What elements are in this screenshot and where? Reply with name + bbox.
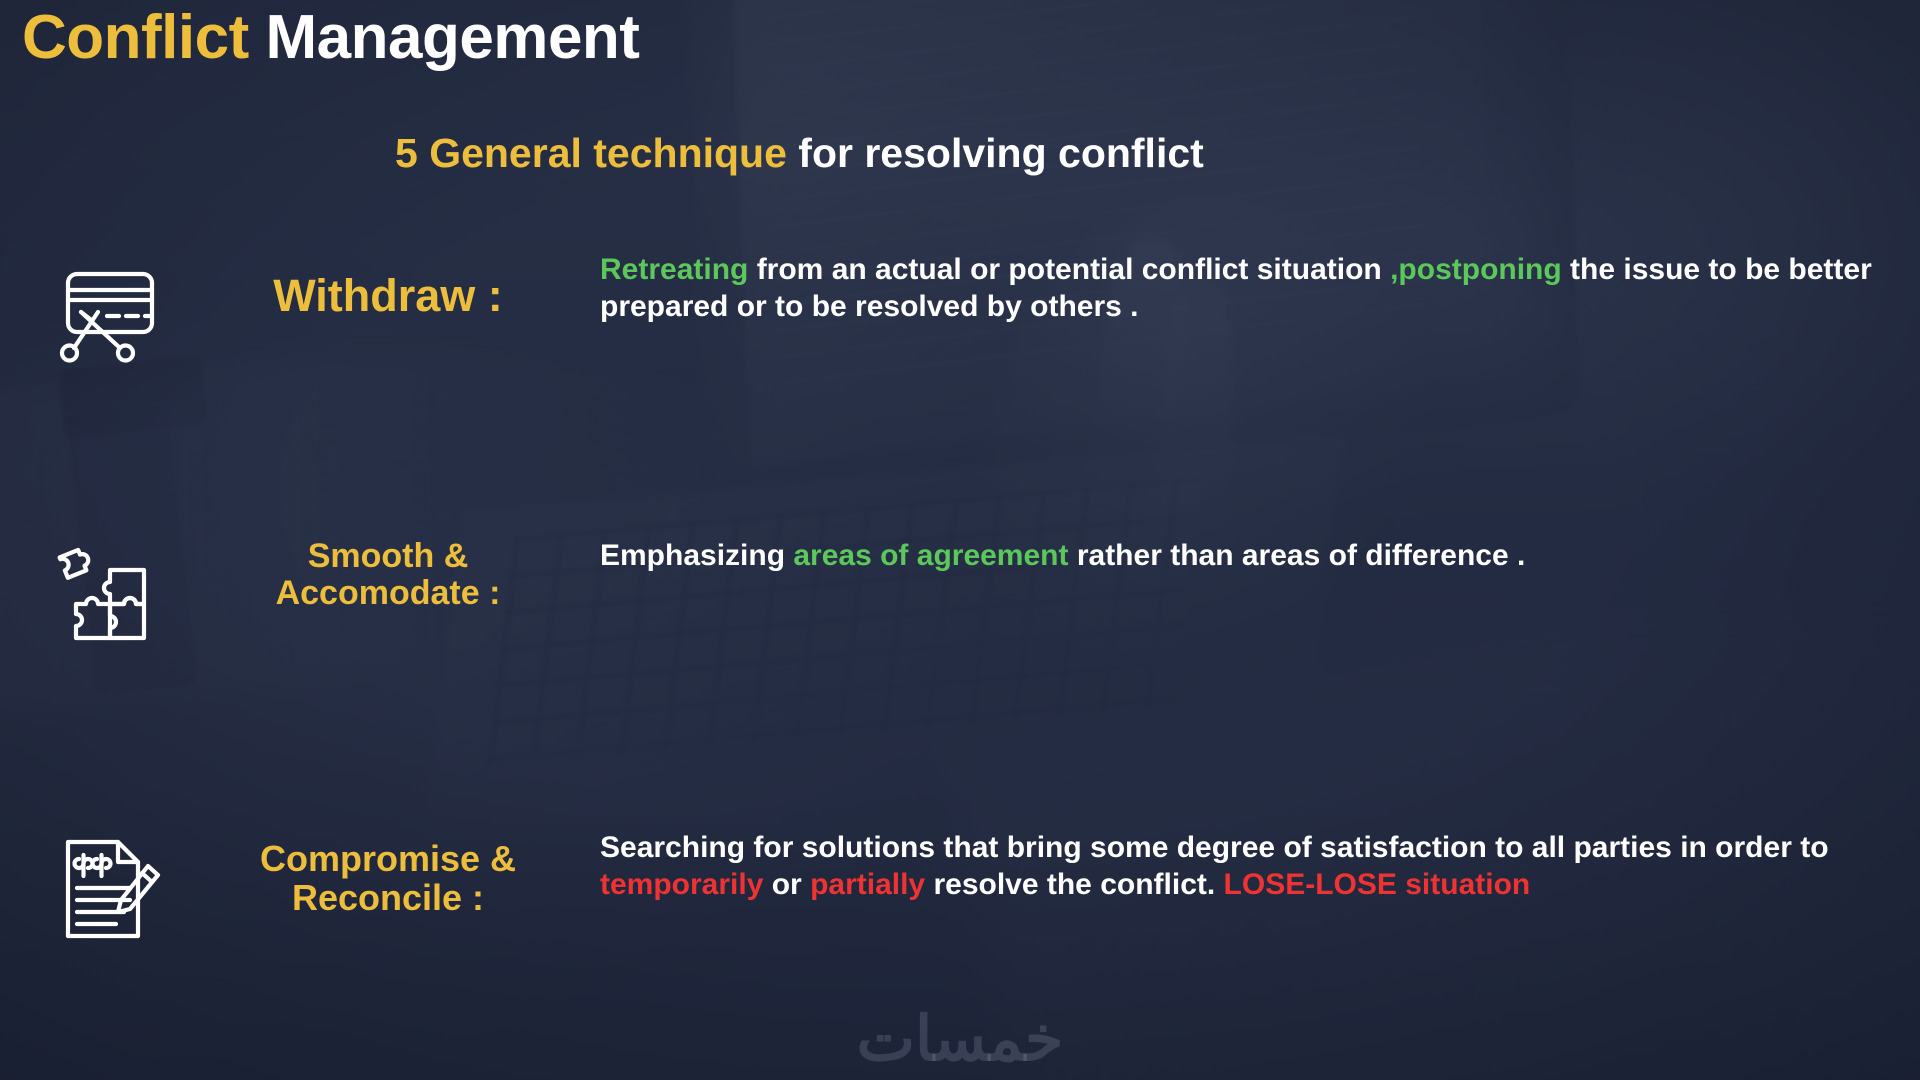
technique-label-smooth-line2: Accomodate : bbox=[276, 574, 501, 612]
slide-title-highlight: Conflict bbox=[22, 3, 249, 72]
credit-card-cut-scissors-icon bbox=[50, 252, 170, 372]
body-span-temporarily: temporarily bbox=[600, 868, 763, 901]
technique-label-withdraw: Withdraw : bbox=[178, 272, 598, 321]
technique-label-smooth-line1: Smooth & bbox=[308, 537, 469, 575]
slide-title: Conflict Management bbox=[22, 2, 639, 73]
body-span-compromise-1: Searching for solutions that bring some … bbox=[600, 831, 1829, 864]
puzzle-pieces-icon bbox=[50, 530, 170, 650]
technique-label-compromise: Compromise & Reconcile : bbox=[178, 840, 598, 918]
technique-body-compromise: Searching for solutions that bring some … bbox=[600, 830, 1890, 903]
slide-content: Conflict Management 5 General technique … bbox=[0, 0, 1920, 1080]
body-span-smooth-1: Emphasizing bbox=[600, 539, 793, 572]
body-span-lose-lose: LOSE-LOSE situation bbox=[1224, 868, 1531, 901]
technique-label-compromise-line2: Reconcile : bbox=[292, 877, 484, 918]
technique-label-smooth: Smooth & Accomodate : bbox=[178, 538, 598, 611]
body-span-compromise-3: resolve the conflict. bbox=[925, 868, 1223, 901]
technique-body-smooth: Emphasizing areas of agreement rather th… bbox=[600, 538, 1890, 575]
slide-root: Conflict Management 5 General technique … bbox=[0, 0, 1920, 1080]
technique-body-withdraw: Retreating from an actual or potential c… bbox=[600, 252, 1890, 325]
document-dollar-pencil-icon bbox=[50, 828, 170, 948]
body-span-withdraw-1: from an actual or potential conflict sit… bbox=[748, 253, 1390, 286]
body-span-areas-of-agreement: areas of agreement bbox=[793, 539, 1068, 572]
watermark-khamsat: خمسات bbox=[857, 1002, 1064, 1075]
technique-label-compromise-line1: Compromise & bbox=[260, 838, 516, 879]
body-span-postponing: ,postponing bbox=[1390, 253, 1562, 286]
body-span-partially: partially bbox=[810, 868, 925, 901]
body-span-retreating: Retreating bbox=[600, 253, 748, 286]
body-span-smooth-2: rather than areas of difference . bbox=[1069, 539, 1526, 572]
slide-title-rest: Management bbox=[249, 3, 640, 72]
slide-subtitle-rest: for resolving conflict bbox=[787, 130, 1204, 176]
slide-subtitle: 5 General technique for resolving confli… bbox=[395, 130, 1204, 177]
body-span-compromise-2: or bbox=[763, 868, 810, 901]
slide-subtitle-highlight: 5 General technique bbox=[395, 130, 787, 176]
